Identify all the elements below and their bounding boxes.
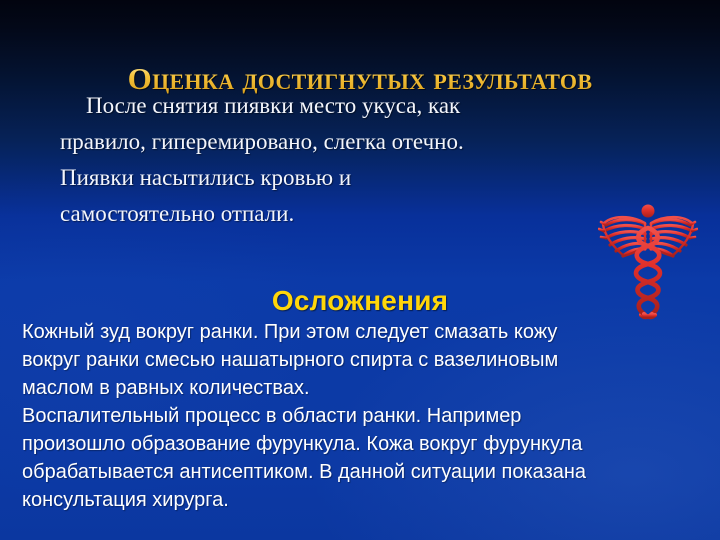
intro-line: Пиявки насытились кровью и xyxy=(60,160,620,196)
complications-line: маслом в равных количествах. xyxy=(22,374,702,402)
complications-line: произошло образование фурункула. Кожа во… xyxy=(22,430,702,458)
intro-paragraph: После снятия пиявки место укуса, как пра… xyxy=(60,88,620,232)
complications-line: консультация хирурга. xyxy=(22,486,702,514)
complications-paragraph: Кожный зуд вокруг ранки. При этом следуе… xyxy=(22,318,702,514)
intro-line: правило, гиперемировано, слегка отечно. xyxy=(60,124,620,160)
complications-line: вокруг ранки смесью нашатырного спирта с… xyxy=(22,346,702,374)
presentation-slide: Оценка достигнутых результатов После сня… xyxy=(0,0,720,540)
complications-line: обрабатывается антисептиком. В данной си… xyxy=(22,458,702,486)
complications-line: Воспалительный процесс в области ранки. … xyxy=(22,402,702,430)
intro-line: После снятия пиявки место укуса, как xyxy=(60,88,620,124)
intro-line: самостоятельно отпали. xyxy=(60,196,620,232)
caduceus-icon xyxy=(598,198,698,324)
